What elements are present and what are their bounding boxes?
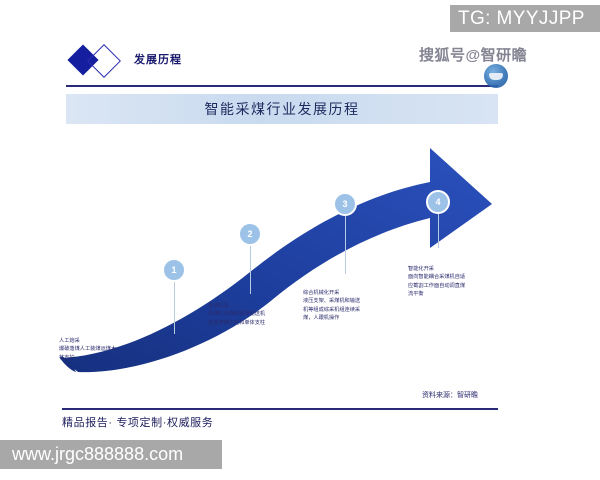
arrow-shape: [60, 148, 492, 372]
diamond-logo: [68, 44, 138, 78]
stage-note-4-line-1: 面向智能耦合采煤机自适: [408, 273, 465, 281]
milestone-number-3: 3: [342, 199, 347, 209]
footer-divider: [62, 408, 498, 410]
milestone-leader-3: [345, 216, 346, 274]
stage-note-3-line-3: 煤，人跟机操作: [303, 314, 360, 322]
sohu-logo-icon: [484, 64, 508, 88]
tg-watermark-banner: TG: MYYJJPP: [450, 5, 600, 32]
stage-note-4: 智能化开采 面向智能耦合采煤机自适 应截割工作面自动调直煤 流平衡: [408, 265, 465, 299]
stage-note-3: 综合机械化开采 液压支架、采煤机和输送 机等组成综采机组连续采 煤，人跟机操作: [303, 289, 360, 323]
stage-note-3-line-2: 机等组成综采机组连续采: [303, 306, 360, 314]
header-divider: [66, 85, 498, 87]
milestone-marker-3[interactable]: 3: [333, 192, 357, 216]
url-watermark-text: www.jrgc888888.com: [12, 444, 183, 465]
stage-note-1-line-1: 爆破落煤人工装煤运煤木: [59, 345, 116, 353]
sohu-watermark-text: 搜狐号@智研瞻: [419, 44, 527, 65]
chart-title: 智能采煤行业发展历程: [205, 99, 360, 119]
milestone-number-1: 1: [171, 265, 176, 275]
stage-note-3-line-1: 液压支架、采煤机和输送: [303, 297, 360, 305]
diamond-outline-icon: [87, 44, 121, 78]
milestone-number-4: 4: [435, 197, 440, 207]
stage-note-4-line-3: 流平衡: [408, 290, 465, 298]
stage-note-4-heading: 智能化开采: [408, 265, 465, 273]
slide-canvas: TG: MYYJJPP 发展历程 搜狐号@智研瞻 智能采煤行业发展历程: [0, 0, 600, 480]
milestone-leader-2: [250, 246, 251, 294]
milestone-marker-1[interactable]: 1: [162, 258, 186, 282]
stage-note-4-line-2: 应截割工作面自动调直煤: [408, 282, 465, 290]
milestone-leader-4: [438, 214, 439, 248]
source-note: 资料来源：智研瞻: [422, 390, 478, 400]
tg-watermark-text: TG: MYYJJPP: [458, 8, 585, 30]
stage-note-1: 人工炮采 爆破落煤人工装煤运煤木 柱支护: [59, 337, 116, 362]
footer-tagline: 精品报告· 专项定制·权威服务: [62, 414, 213, 430]
stage-note-1-line-2: 柱支护: [59, 354, 116, 362]
stage-note-2-heading: 普通机采: [208, 302, 265, 310]
url-watermark-banner: www.jrgc888888.com: [0, 440, 222, 469]
stage-note-1-heading: 人工炮采: [59, 337, 116, 345]
milestone-marker-4[interactable]: 4: [426, 190, 450, 214]
milestone-number-2: 2: [247, 229, 252, 239]
stage-note-2-line-1: 采煤机采煤和装煤输送机: [208, 310, 265, 318]
milestone-leader-1: [174, 282, 175, 334]
milestone-marker-2[interactable]: 2: [238, 222, 262, 246]
stage-note-2-line-2: 金属摩擦支柱和单体支柱: [208, 319, 265, 327]
chart-title-bar: 智能采煤行业发展历程: [66, 94, 498, 124]
stage-note-2: 普通机采 采煤机采煤和装煤输送机 金属摩擦支柱和单体支柱: [208, 302, 265, 327]
stage-note-3-heading: 综合机械化开采: [303, 289, 360, 297]
header-label: 发展历程: [134, 51, 182, 67]
